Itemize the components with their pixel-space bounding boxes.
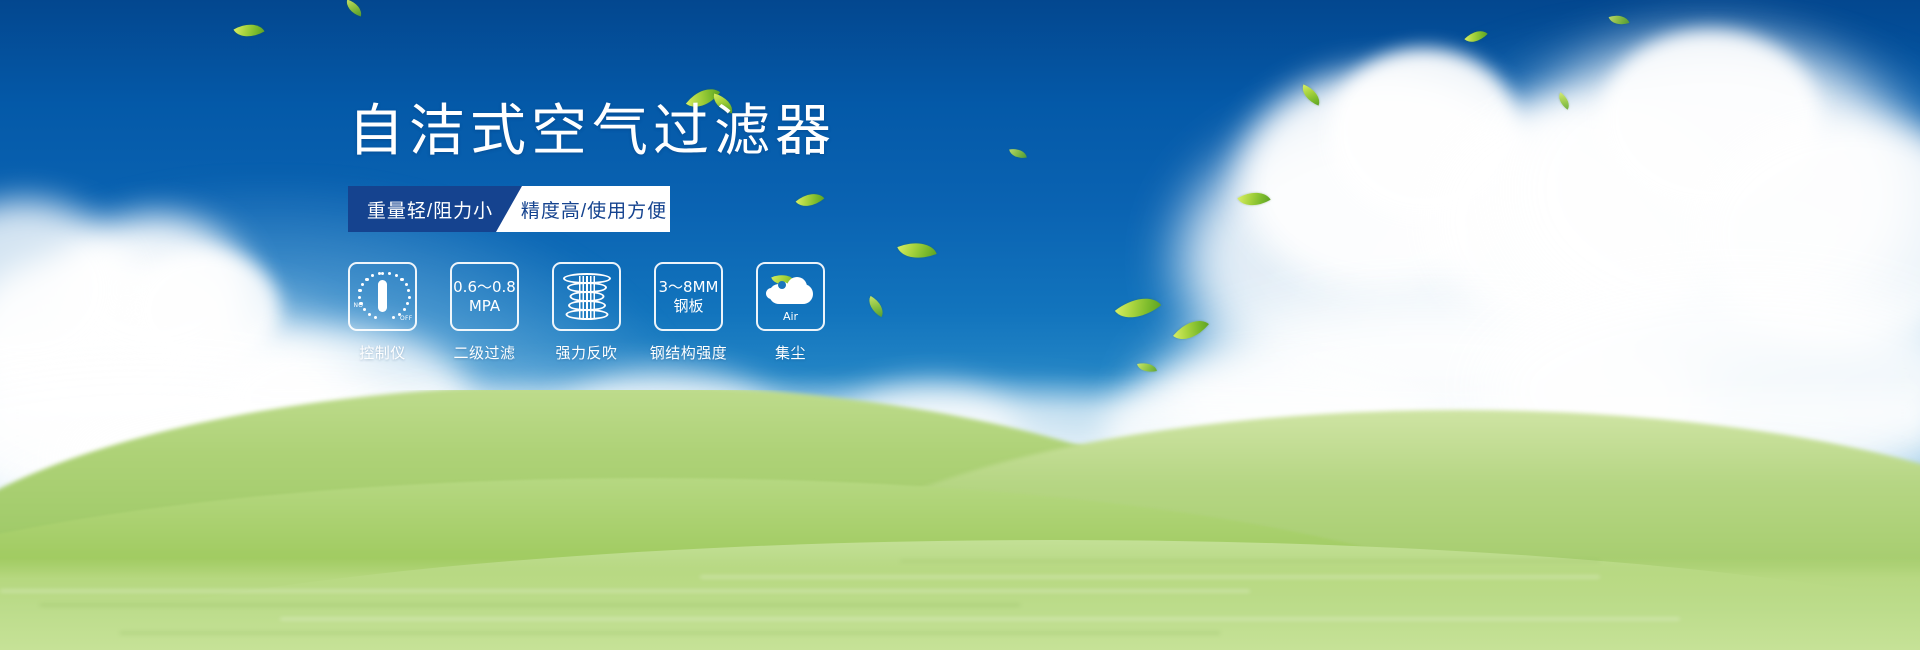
air-label: Air <box>765 310 817 323</box>
feature-item-secondary-filtration[interactable]: 0.6～0.8 MPA 二级过滤 <box>450 262 519 363</box>
tab-label: 重量轻/阻力小 <box>367 196 493 223</box>
feature-icon-row: NO OFF <box>348 262 1068 363</box>
tab-lightweight-low-resistance[interactable]: 重量轻/阻力小 <box>348 186 526 232</box>
feature-item-control-instrument[interactable]: NO OFF <box>348 262 417 363</box>
feature-icon-box: NO OFF <box>348 262 417 331</box>
tab-label: 精度高/使用方便 <box>521 196 667 223</box>
page-title: 自洁式空气过滤器 <box>348 104 1068 160</box>
cloud-notch <box>778 281 786 289</box>
feature-icon-box: Air <box>756 262 825 331</box>
feature-icon-box: 0.6～0.8 MPA <box>450 262 519 331</box>
pressure-text-icon: 0.6～0.8 <box>453 278 516 296</box>
pressure-unit-text: MPA <box>469 297 500 315</box>
dial-label-off: OFF <box>400 315 413 322</box>
dial-needle <box>378 280 387 312</box>
feature-item-strong-blowback[interactable]: 强力反吹 <box>552 262 621 363</box>
feature-item-dust-collection[interactable]: Air 集尘 <box>756 262 825 363</box>
grass-field <box>0 390 1920 650</box>
cloud-puff <box>766 288 777 299</box>
air-cloud-icon: Air <box>765 274 817 320</box>
feature-label: 二级过滤 <box>453 342 515 363</box>
steel-plate-unit-text: 钢板 <box>673 297 703 315</box>
feature-tabs: 重量轻/阻力小 精度高/使用方便 <box>348 186 670 232</box>
feature-label: 钢结构强度 <box>650 342 728 363</box>
feature-label: 集尘 <box>775 342 806 363</box>
steel-plate-text-icon: 3～8MM <box>659 278 719 296</box>
feature-label: 控制仪 <box>359 342 406 363</box>
cloud-puff <box>787 277 807 297</box>
feature-icon-box <box>552 262 621 331</box>
feature-icon-box: 3～8MM 钢板 <box>654 262 723 331</box>
tab-high-precision-easy-use[interactable]: 精度高/使用方便 <box>496 186 670 232</box>
feature-label: 强力反吹 <box>555 342 617 363</box>
banner-content: 自洁式空气过滤器 重量轻/阻力小 精度高/使用方便 NO OFF <box>348 104 1068 363</box>
control-dial-icon: NO OFF <box>357 271 409 323</box>
coil-blowback-icon <box>563 272 611 322</box>
product-banner: 自洁式空气过滤器 重量轻/阻力小 精度高/使用方便 NO OFF <box>0 0 1920 650</box>
feature-item-steel-structure-strength[interactable]: 3～8MM 钢板 钢结构强度 <box>654 262 723 363</box>
